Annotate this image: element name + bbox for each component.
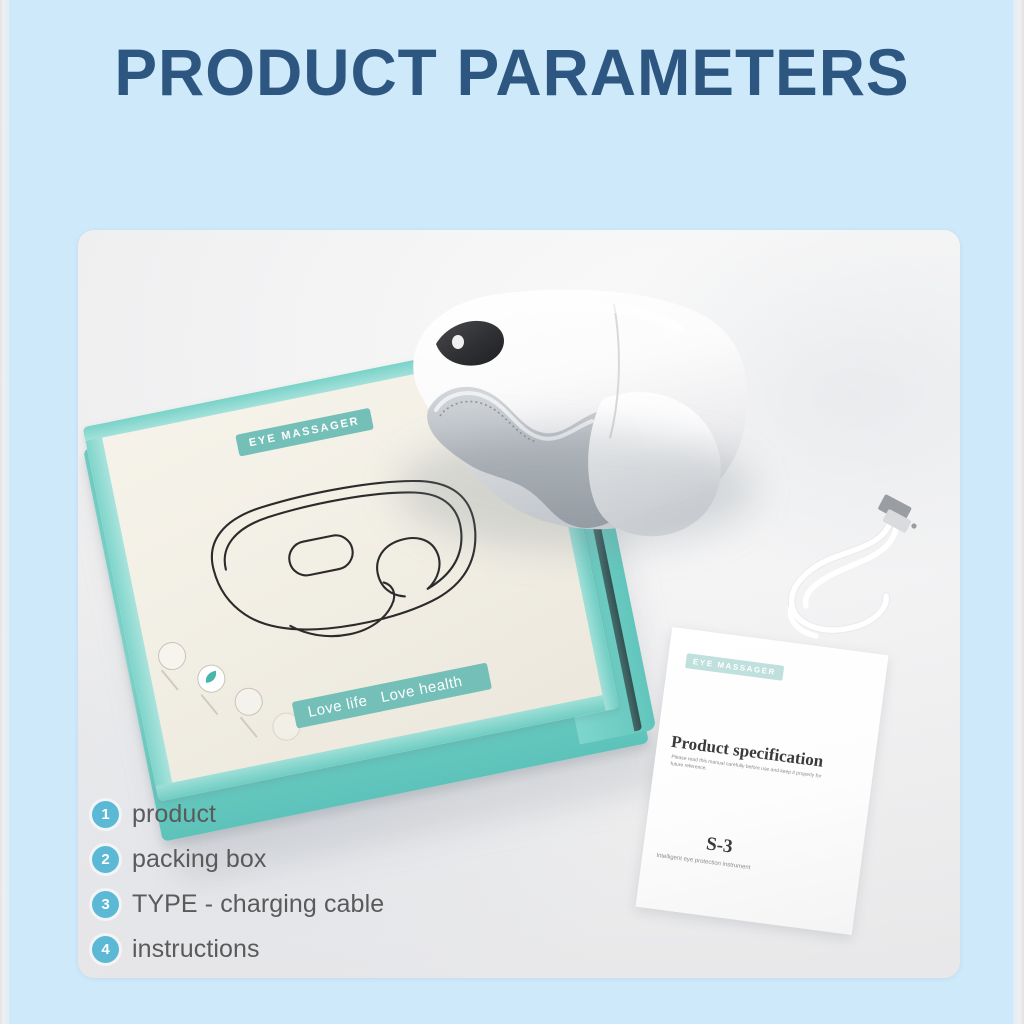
sheet-model: S-3 [705,833,734,858]
cable-loop-outer [792,522,890,630]
box-tagline-1: Love life [306,692,369,721]
box-feature-line-3 [240,717,258,738]
box-feature-icon-2 [195,662,228,695]
instruction-sheet: EYE MASSAGER Product specification Pleas… [636,627,889,935]
cable-illustration [768,492,938,657]
box-feature-icons [150,620,303,773]
legend-badge-3: 3 [92,891,119,918]
right-paper-edge [1013,0,1024,1024]
left-paper-edge [0,0,9,1024]
box-brand-badge: EYE MASSAGER [235,408,373,457]
legend-badge-1: 1 [92,801,119,828]
sheet-brand-badge: EYE MASSAGER [685,653,784,681]
legend-item-packing-box: 2 packing box [92,837,512,882]
box-feature-line-2 [200,694,218,715]
box-feature-icon-1 [156,640,189,673]
cable-usb-connector [878,494,917,533]
device-power-button [452,335,464,349]
box-feature-icon-3 [232,685,265,718]
charging-cable [768,492,938,657]
box-feature-line-1 [161,669,179,690]
sheet-model-caption: Intelligent eye protection instrument [656,853,751,871]
legend-label-1: product [132,800,216,829]
eye-massager-device [378,280,778,570]
page-title: PRODUCT PARAMETERS [15,36,1008,108]
legend-item-product: 1 product [92,792,512,837]
product-photo-card: EYE MASSAGER [78,230,960,978]
legend-label-3: TYPE - charging cable [132,890,384,919]
legend-label-2: packing box [132,845,267,874]
legend-label-4: instructions [132,935,260,964]
legend-list: 1 product 2 packing box 3 TYPE - chargin… [92,792,512,972]
product-parameters-page: PRODUCT PARAMETERS EYE MASSAGER [0,0,1024,1024]
legend-item-instructions: 4 instructions [92,927,512,972]
legend-badge-2: 2 [92,846,119,873]
device-shadow [396,430,756,550]
box-feature-leaf-icon [196,663,227,694]
legend-item-charging-cable: 3 TYPE - charging cable [92,882,512,927]
box-tagline-2: Love health [379,673,464,706]
legend-badge-4: 4 [92,936,119,963]
